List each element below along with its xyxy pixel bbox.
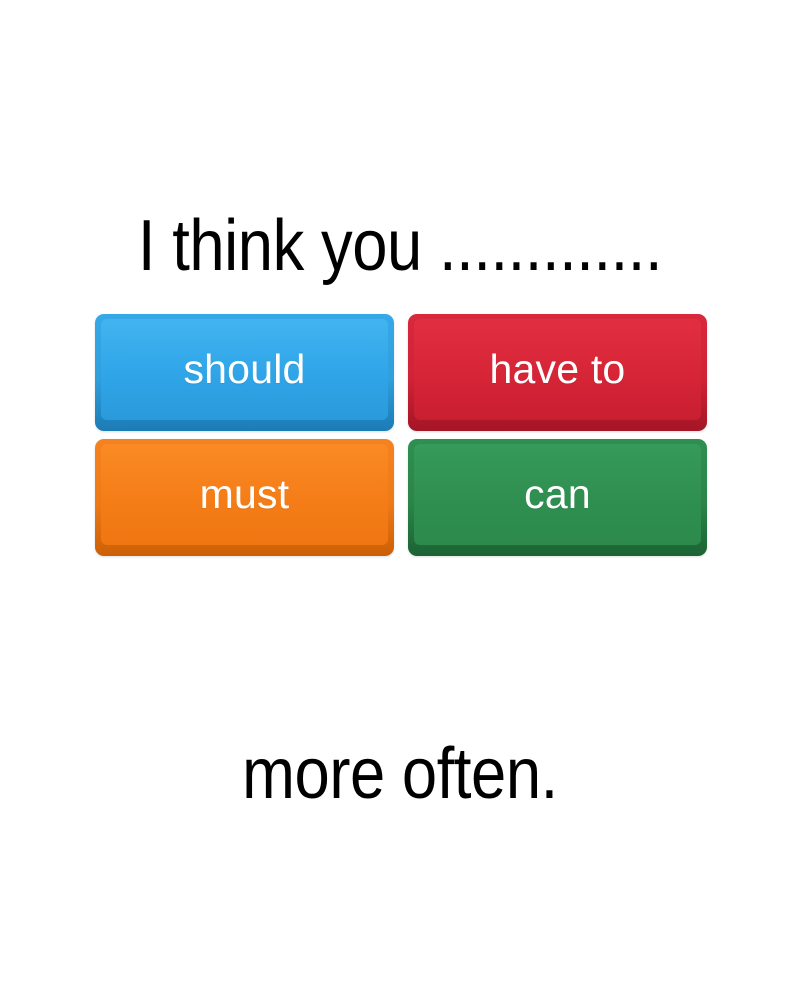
answer-face — [414, 444, 701, 545]
answer-option-have-to[interactable]: have to — [408, 314, 707, 431]
answer-options-grid: should have to must can — [95, 314, 707, 552]
quiz-stage: I think you ............. visit your gra… — [0, 0, 800, 600]
answer-face — [101, 444, 388, 545]
answer-face — [101, 319, 388, 420]
answer-face — [414, 319, 701, 420]
answer-option-should[interactable]: should — [95, 314, 394, 431]
answer-option-can[interactable]: can — [408, 439, 707, 556]
answer-option-must[interactable]: must — [95, 439, 394, 556]
question-line-3: more often. — [48, 730, 752, 818]
question-line-1: I think you ............. — [48, 202, 752, 290]
